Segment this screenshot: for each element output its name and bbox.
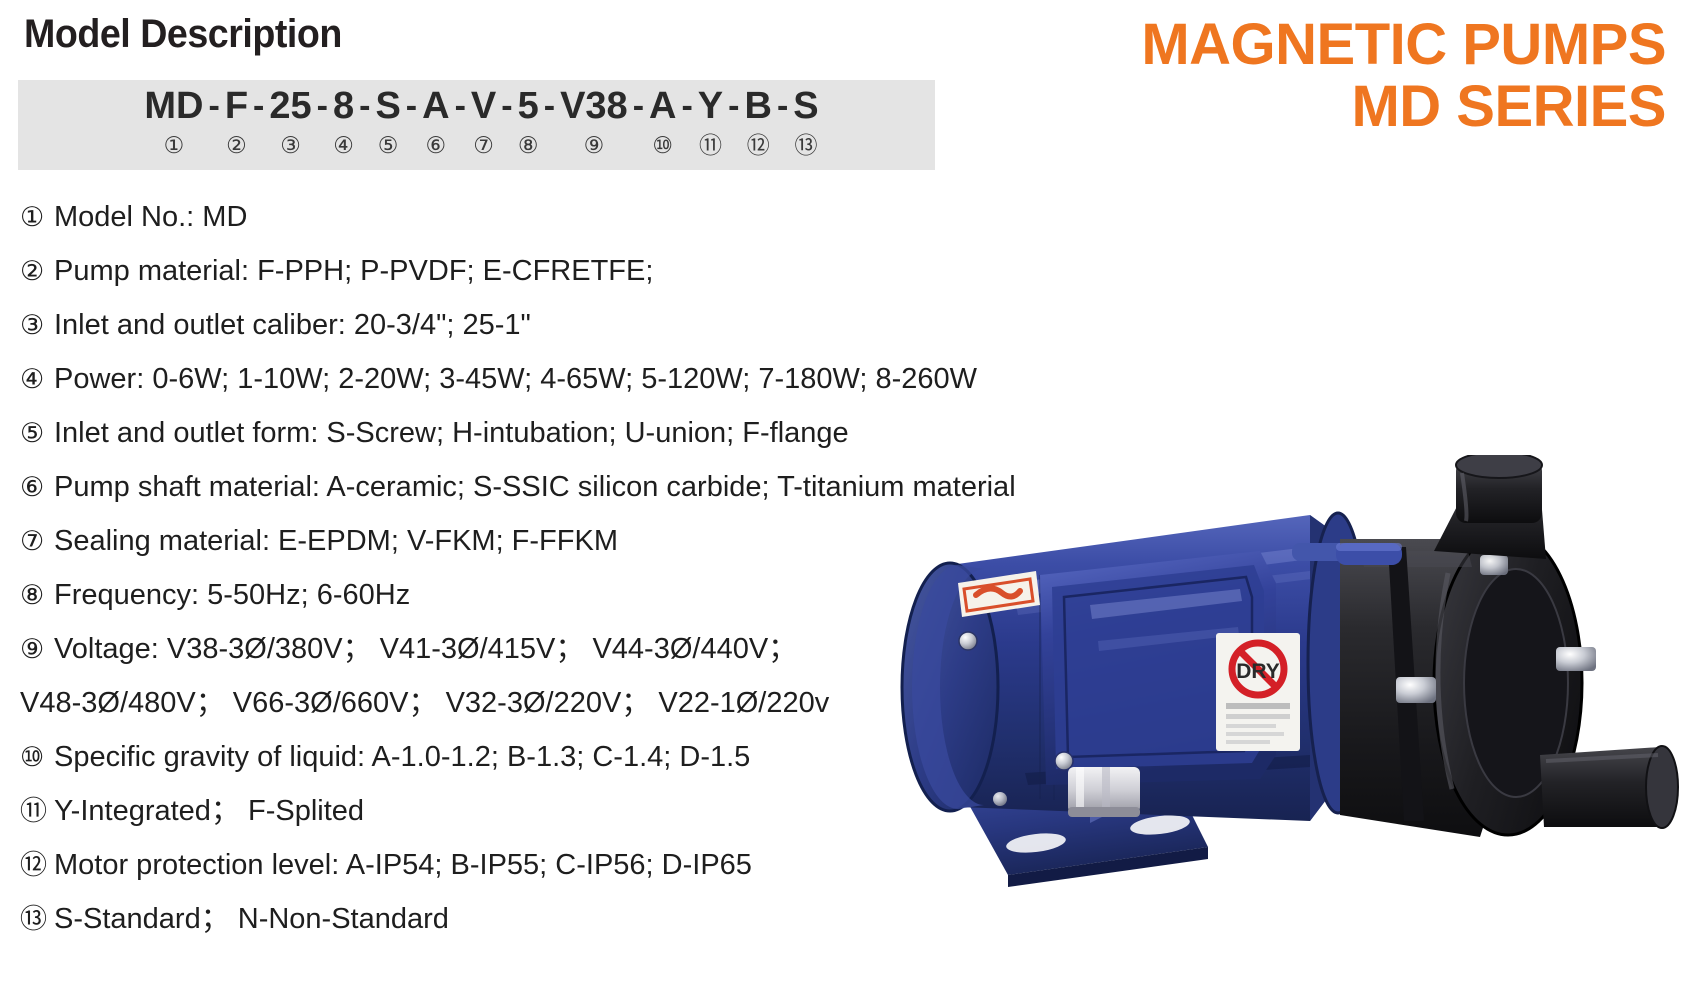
model-code-segment: Y⑪ bbox=[698, 84, 723, 160]
model-code-separator: - bbox=[772, 84, 793, 128]
product-title-line-1: MAGNETIC PUMPS bbox=[1141, 14, 1666, 76]
model-code-separator: - bbox=[312, 84, 333, 128]
model-code-segment: A⑩ bbox=[649, 84, 676, 160]
spec-item-marker: ⑨ bbox=[20, 622, 54, 676]
spec-item-marker: ④ bbox=[20, 352, 54, 406]
model-code-token: MD bbox=[144, 84, 203, 128]
model-code-segment: 8④ bbox=[333, 84, 354, 160]
model-code-index: ⑤ bbox=[378, 130, 399, 160]
model-code-index: ① bbox=[164, 130, 185, 160]
product-photo: DRY bbox=[840, 455, 1682, 1000]
pump-outlet-port bbox=[1434, 455, 1546, 559]
model-code-segment: F② bbox=[225, 84, 248, 160]
spec-item: ③Inlet and outlet caliber: 20-3/4"; 25-1… bbox=[20, 298, 1140, 352]
spec-item-text: Motor protection level: A-IP54; B-IP55; … bbox=[54, 838, 752, 892]
model-code-segment: S⑬ bbox=[793, 84, 818, 160]
model-code-segment: B⑫ bbox=[744, 84, 771, 160]
model-code-token: V38 bbox=[560, 84, 628, 128]
cable-gland bbox=[1068, 767, 1140, 817]
model-code-index: ③ bbox=[280, 130, 301, 160]
model-code-index: ⑬ bbox=[794, 130, 817, 160]
model-code-token: B bbox=[744, 84, 771, 128]
spec-item-marker: ⑩ bbox=[20, 730, 54, 784]
vent-stub bbox=[1336, 543, 1402, 565]
spec-item-text: Pump material: F-PPH; P-PVDF; E-CFRETFE; bbox=[54, 244, 653, 298]
model-code-separator: - bbox=[248, 84, 269, 128]
model-code-index: ⑥ bbox=[426, 130, 447, 160]
spec-item: ②Pump material: F-PPH; P-PVDF; E-CFRETFE… bbox=[20, 244, 1140, 298]
spec-item-text: Y-Integrated； F-Splited bbox=[54, 784, 364, 838]
model-code-row: MD①-F②-25③-8④-S⑤-A⑥-V⑦-5⑧-V38⑨-A⑩-Y⑪-B⑫-… bbox=[18, 84, 935, 160]
model-code-segment: A⑥ bbox=[422, 84, 449, 160]
model-code-index: ⑧ bbox=[518, 130, 539, 160]
spec-item-text: S-Standard； N-Non-Standard bbox=[54, 892, 449, 946]
spec-item-text: Model No.: MD bbox=[54, 190, 247, 244]
spec-item-marker: ③ bbox=[20, 298, 54, 352]
model-code-segment: 5⑧ bbox=[518, 84, 539, 160]
product-title: MAGNETIC PUMPS MD SERIES bbox=[1141, 14, 1666, 138]
model-code-separator: - bbox=[203, 84, 224, 128]
spec-item-text: Frequency: 5-50Hz; 6-60Hz bbox=[54, 568, 410, 622]
model-code-index: ④ bbox=[333, 130, 354, 160]
model-code-token: 25 bbox=[269, 84, 311, 128]
model-code-segment: S⑤ bbox=[375, 84, 400, 160]
spec-item: ①Model No.: MD bbox=[20, 190, 1140, 244]
no-dry-run-warning-label: DRY bbox=[1216, 633, 1300, 751]
model-code-token: A bbox=[422, 84, 449, 128]
spec-item-marker: ⑫ bbox=[20, 838, 54, 892]
model-code-box: MD①-F②-25③-8④-S⑤-A⑥-V⑦-5⑧-V38⑨-A⑩-Y⑪-B⑫-… bbox=[18, 80, 935, 170]
model-code-segment: 25③ bbox=[269, 84, 311, 160]
spec-item-marker: ⑬ bbox=[20, 892, 54, 946]
model-code-token: Y bbox=[698, 84, 723, 128]
spec-item-marker: ② bbox=[20, 244, 54, 298]
spec-item-text: Specific gravity of liquid: A-1.0-1.2; B… bbox=[54, 730, 750, 784]
page-title: Model Description bbox=[24, 12, 342, 57]
spec-item-marker: ① bbox=[20, 190, 54, 244]
model-code-index: ⑪ bbox=[699, 130, 722, 160]
spec-item-text: Inlet and outlet form: S-Screw; H-intuba… bbox=[54, 406, 849, 460]
spec-item-marker: ⑦ bbox=[20, 514, 54, 568]
spec-item-text: Power: 0-6W; 1-10W; 2-20W; 3-45W; 4-65W;… bbox=[54, 352, 977, 406]
model-code-segment: MD① bbox=[144, 84, 203, 160]
model-code-token: A bbox=[649, 84, 676, 128]
spec-item-text: Inlet and outlet caliber: 20-3/4"; 25-1" bbox=[54, 298, 531, 352]
model-code-index: ⑨ bbox=[584, 130, 605, 160]
model-code-separator: - bbox=[628, 84, 649, 128]
spec-item: ⑤Inlet and outlet form: S-Screw; H-intub… bbox=[20, 406, 1140, 460]
model-code-token: F bbox=[225, 84, 248, 128]
spec-item: ④Power: 0-6W; 1-10W; 2-20W; 3-45W; 4-65W… bbox=[20, 352, 1140, 406]
model-code-index: ⑦ bbox=[473, 130, 494, 160]
spec-item-text: Sealing material: E-EPDM; V-FKM; F-FFKM bbox=[54, 514, 618, 568]
model-code-index: ② bbox=[226, 130, 247, 160]
model-code-index: ⑩ bbox=[652, 130, 673, 160]
model-code-token: S bbox=[793, 84, 818, 128]
spec-item-marker: ⑪ bbox=[20, 784, 54, 838]
model-code-separator: - bbox=[539, 84, 560, 128]
model-code-token: V bbox=[471, 84, 496, 128]
warning-label-text: DRY bbox=[1236, 660, 1280, 683]
model-code-token: 8 bbox=[333, 84, 354, 128]
pump-inlet-port bbox=[1540, 746, 1678, 828]
spec-item-marker: ⑥ bbox=[20, 460, 54, 514]
spec-item-marker: ⑤ bbox=[20, 406, 54, 460]
model-code-separator: - bbox=[450, 84, 471, 128]
model-code-token: S bbox=[375, 84, 400, 128]
spec-item-marker: ⑧ bbox=[20, 568, 54, 622]
model-code-separator: - bbox=[496, 84, 517, 128]
spec-item-text: Voltage: V38-3Ø/380V； V41-3Ø/415V； V44-3… bbox=[54, 622, 797, 676]
product-title-line-2: MD SERIES bbox=[1141, 76, 1666, 138]
model-code-token: 5 bbox=[518, 84, 539, 128]
model-code-separator: - bbox=[676, 84, 697, 128]
model-code-index: ⑫ bbox=[747, 130, 770, 160]
model-code-separator: - bbox=[354, 84, 375, 128]
model-code-segment: V⑦ bbox=[471, 84, 496, 160]
model-code-separator: - bbox=[401, 84, 422, 128]
model-code-segment: V38⑨ bbox=[560, 84, 628, 160]
model-code-separator: - bbox=[723, 84, 744, 128]
